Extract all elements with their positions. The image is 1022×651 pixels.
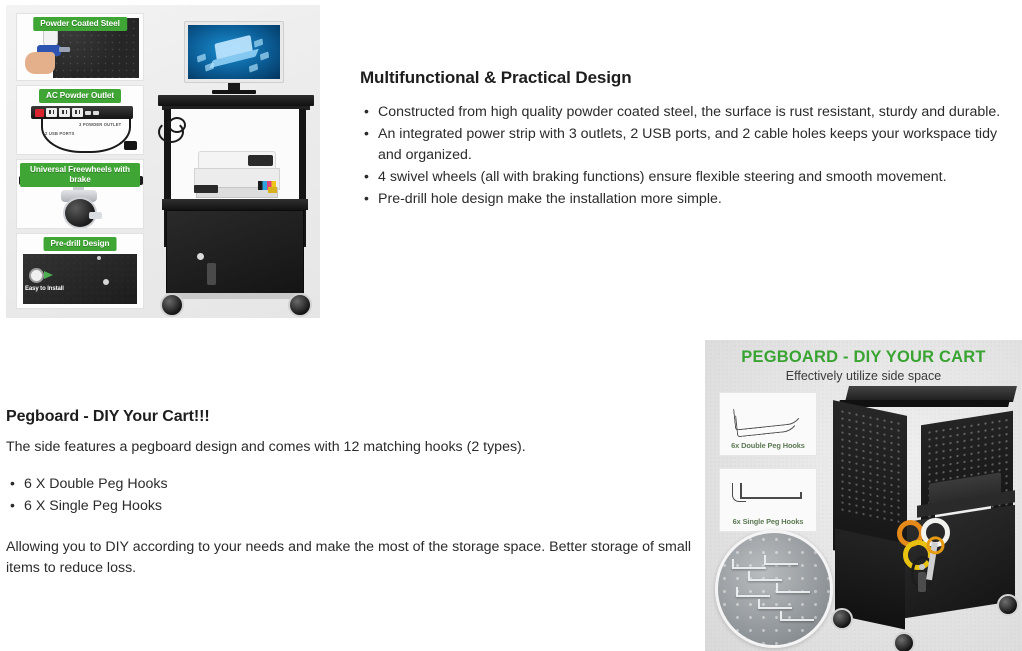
cart-wheel-front-right <box>893 632 915 651</box>
section-two-heading: Pegboard - DIY Your Cart!!! <box>6 408 696 426</box>
mini-label-outlet-count: 3 POWDER OUTLET <box>79 122 121 127</box>
callout-tag-pre-drill-design: Pre-drill Design <box>44 237 117 251</box>
section-two-closing-text: Allowing you to DIY according to your ne… <box>6 537 696 579</box>
callout-tag-powder-coated-steel: Powder Coated Steel <box>33 17 127 31</box>
hook-card-single-caption: 6x Single Peg Hooks <box>720 517 816 526</box>
section-two-lead-text: The side features a pegboard design and … <box>6 437 696 458</box>
section-multifunctional-practical-design: Multifunctional & Practical Design Const… <box>360 68 1008 211</box>
callout-universal-freewheels: Universal Freewheels with brake <box>16 159 144 229</box>
list-item: An integrated power strip with 3 outlets… <box>378 124 1008 166</box>
cabinet-handle <box>918 572 926 592</box>
cart-wheel-left <box>160 293 184 317</box>
section-one-bullet-list: Constructed from high quality powder coa… <box>360 102 1008 210</box>
callout-ac-power-outlet: 3 POWDER OUTLET 2 USB PORTS AC Powder Ou… <box>16 85 144 155</box>
pegboard-detail-zoom-circle <box>715 530 833 648</box>
section-one-heading: Multifunctional & Practical Design <box>360 68 1008 88</box>
list-item: Pre-drill hole design make the installat… <box>378 189 1008 210</box>
easy-to-install-label: Easy to Install <box>25 286 64 292</box>
mini-label-usb-count: 2 USB PORTS <box>45 131 75 136</box>
cart-wheel-back-right <box>997 594 1019 616</box>
list-item: 6 X Double Peg Hooks <box>24 474 696 495</box>
single-peg-hook-icon <box>732 483 802 509</box>
monitor-graphic <box>184 21 284 83</box>
power-strip-graphic <box>31 106 133 119</box>
hook-card-double-peg: 6x Double Peg Hooks <box>719 392 817 456</box>
cable-hole-graphic <box>168 117 186 133</box>
pre-drill-hole-large <box>29 268 44 283</box>
arrow-icon <box>44 271 53 279</box>
double-peg-hook-icon <box>734 405 802 433</box>
hook-card-double-caption: 6x Double Peg Hooks <box>720 441 816 450</box>
hook-card-single-peg: 6x Single Peg Hooks <box>719 468 817 532</box>
plug-icon <box>124 141 137 150</box>
cabinet-handle <box>207 263 216 285</box>
scissors-icon <box>926 542 938 580</box>
pre-drill-hole-small <box>103 279 109 285</box>
accessory-chip <box>268 187 277 193</box>
callout-tag-ac-power-outlet: AC Powder Outlet <box>39 89 121 103</box>
cart-middle-shelf <box>162 199 308 210</box>
cart-top-shelf <box>158 95 314 106</box>
pegboard-cart-illustration <box>825 386 1015 636</box>
cabinet-lock-icon <box>197 253 204 260</box>
section-two-bullet-list: 6 X Double Peg Hooks 6 X Single Peg Hook… <box>6 474 696 517</box>
cart-wheel-right <box>288 293 312 317</box>
list-item: 4 swivel wheels (all with braking functi… <box>378 167 1008 188</box>
product-image-features-collage: Powder Coated Steel 3 POWDER OUTLET 2 US… <box>6 5 320 318</box>
product-image-pegboard: PEGBOARD - DIY YOUR CART Effectively uti… <box>705 340 1022 651</box>
power-strip-on-cart <box>194 185 218 193</box>
list-item: 6 X Single Peg Hooks <box>24 496 696 517</box>
cart-cabinet <box>166 210 304 296</box>
spray-gun-icon <box>25 30 69 76</box>
section-pegboard-diy: Pegboard - DIY Your Cart!!! The side fea… <box>6 408 696 579</box>
pegboard-image-title: PEGBOARD - DIY YOUR CART <box>705 348 1022 367</box>
cart-base-bar <box>166 293 304 299</box>
cart-wheel-front-left <box>831 608 853 630</box>
callout-powder-coated-steel: Powder Coated Steel <box>16 13 144 81</box>
pre-drill-hole-top <box>97 256 101 260</box>
pegboard-image-subtitle: Effectively utilize side space <box>705 369 1022 383</box>
list-item: Constructed from high quality powder coa… <box>378 102 1008 123</box>
av-cart-illustration <box>148 21 318 311</box>
cabinet-lock-icon <box>919 564 925 570</box>
callout-pre-drill-design: Easy to Install Pre-drill Design <box>16 233 144 309</box>
callout-tag-universal-freewheels: Universal Freewheels with brake <box>20 163 140 187</box>
caster-wheel-graphic <box>51 182 109 226</box>
